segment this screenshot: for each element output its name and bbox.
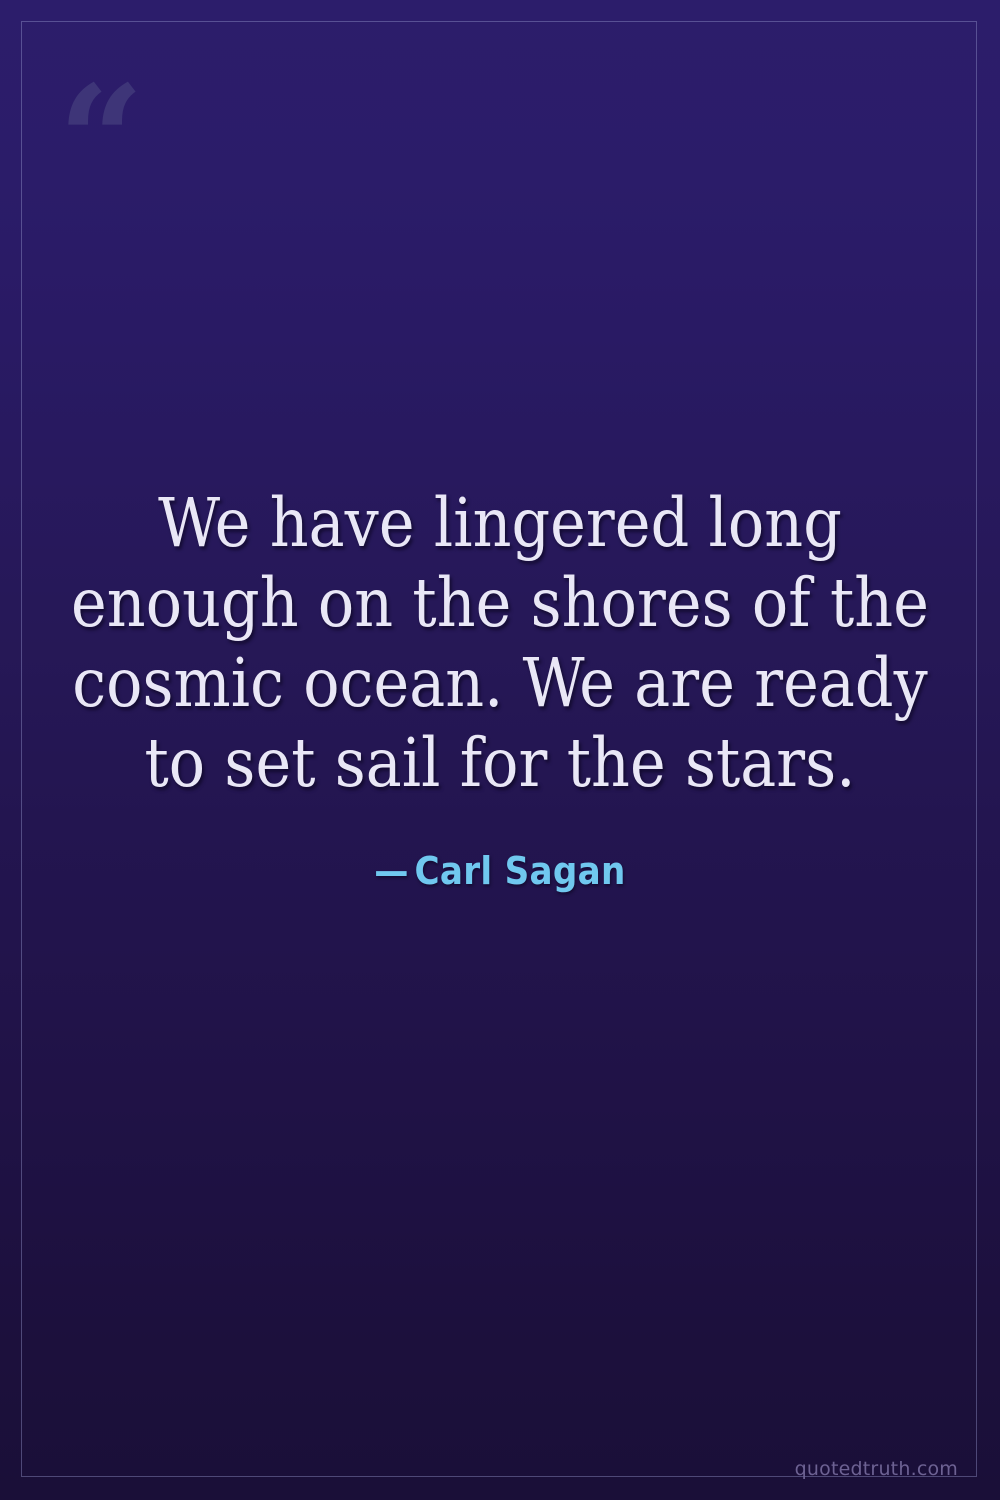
attribution-author-name: Carl Sagan (415, 849, 626, 893)
site-watermark: quotedtruth.com (795, 1458, 958, 1480)
attribution-dash: — (374, 849, 414, 893)
quote-inner: We have lingered long enough on the shor… (55, 483, 945, 893)
quote-text: We have lingered long enough on the shor… (55, 483, 945, 803)
attribution: —Carl Sagan (55, 849, 945, 893)
quote-card: “ We have lingered long enough on the sh… (0, 0, 1000, 1500)
quote-content: We have lingered long enough on the shor… (0, 0, 1000, 1500)
